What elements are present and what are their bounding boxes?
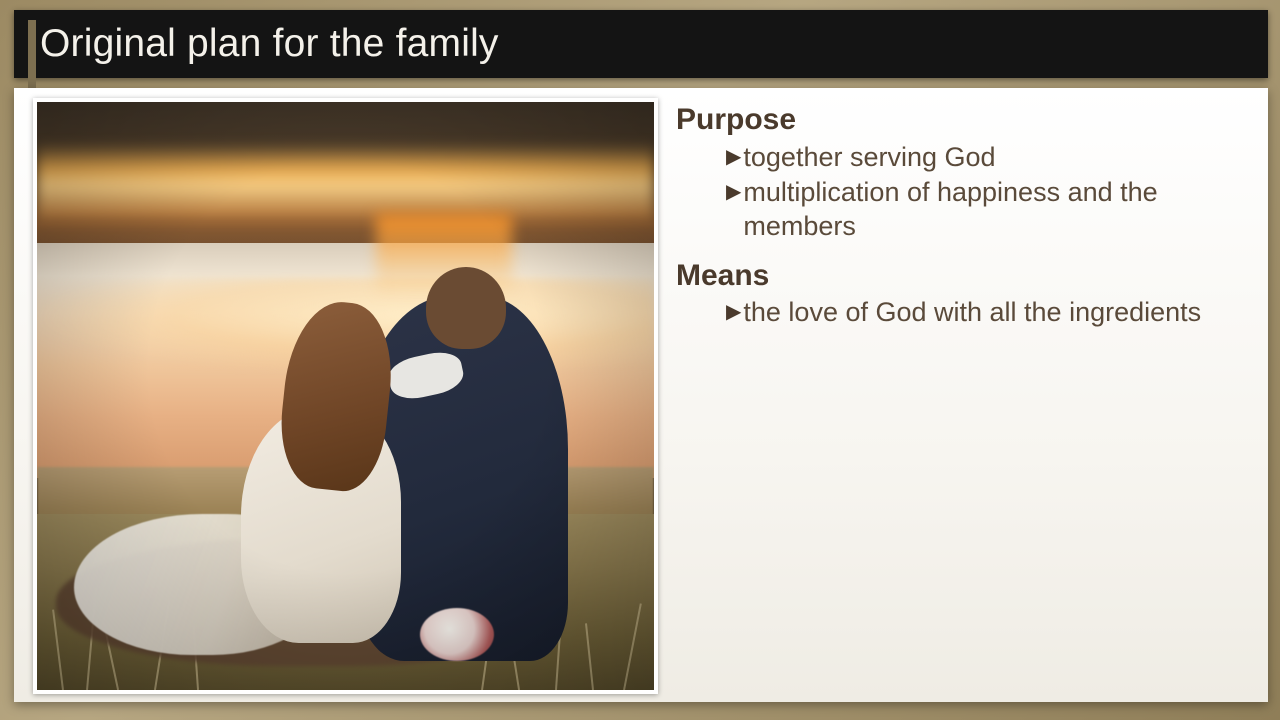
bullet-text: together serving God — [743, 141, 1256, 175]
bullet-item: ▶ together serving God — [676, 141, 1256, 175]
triangle-bullet-icon: ▶ — [726, 176, 741, 208]
bullet-item: ▶ multiplication of happiness and the me… — [676, 176, 1256, 244]
bullet-item: ▶ the love of God with all the ingredien… — [676, 296, 1256, 330]
bullet-text: the love of God with all the ingredients — [743, 296, 1256, 330]
heading-purpose: Purpose — [676, 102, 1256, 139]
photo-vignette — [37, 102, 654, 690]
slide-content-panel: Purpose ▶ together serving God ▶ multipl… — [14, 88, 1268, 702]
page-title: Original plan for the family — [40, 22, 499, 66]
heading-means: Means — [676, 258, 1256, 295]
title-accent-bar — [28, 20, 36, 88]
slide-title-bar: Original plan for the family — [14, 10, 1268, 78]
couple-at-sunset-photo — [37, 102, 654, 690]
bullet-text: multiplication of happiness and the memb… — [743, 176, 1256, 244]
presentation-slide: Original plan for the family — [0, 0, 1280, 720]
slide-text-body: Purpose ▶ together serving God ▶ multipl… — [676, 102, 1256, 332]
slide-image-frame — [33, 98, 658, 694]
triangle-bullet-icon: ▶ — [726, 296, 741, 328]
triangle-bullet-icon: ▶ — [726, 141, 741, 173]
